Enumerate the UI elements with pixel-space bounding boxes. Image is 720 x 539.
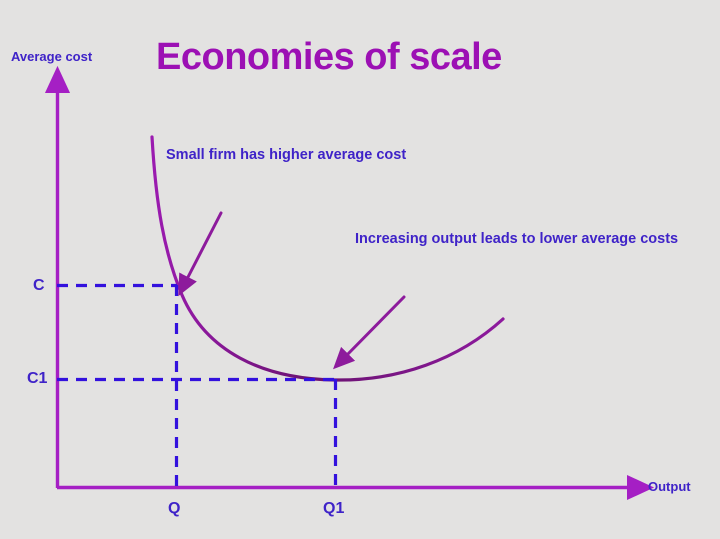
annotation-small-firm: Small firm has higher average cost	[166, 146, 298, 165]
x-axis-label: Output	[648, 479, 691, 496]
y-tick-label-c: C	[33, 276, 45, 296]
chart-figure	[0, 0, 720, 539]
annotation-increasing-output: Increasing output leads to lower average…	[355, 230, 507, 249]
x-tick-label-q1: Q1	[323, 499, 344, 519]
y-tick-label-c1: C1	[27, 369, 47, 389]
x-tick-label-q: Q	[168, 499, 180, 519]
y-axis-label: Average cost	[11, 49, 92, 66]
economies-of-scale-diagram: Economies of scale	[0, 0, 720, 539]
annotation-arrow-increasing-output	[345, 297, 404, 357]
annotation-arrow-small-firm	[186, 213, 221, 281]
average-cost-curve	[152, 137, 503, 380]
